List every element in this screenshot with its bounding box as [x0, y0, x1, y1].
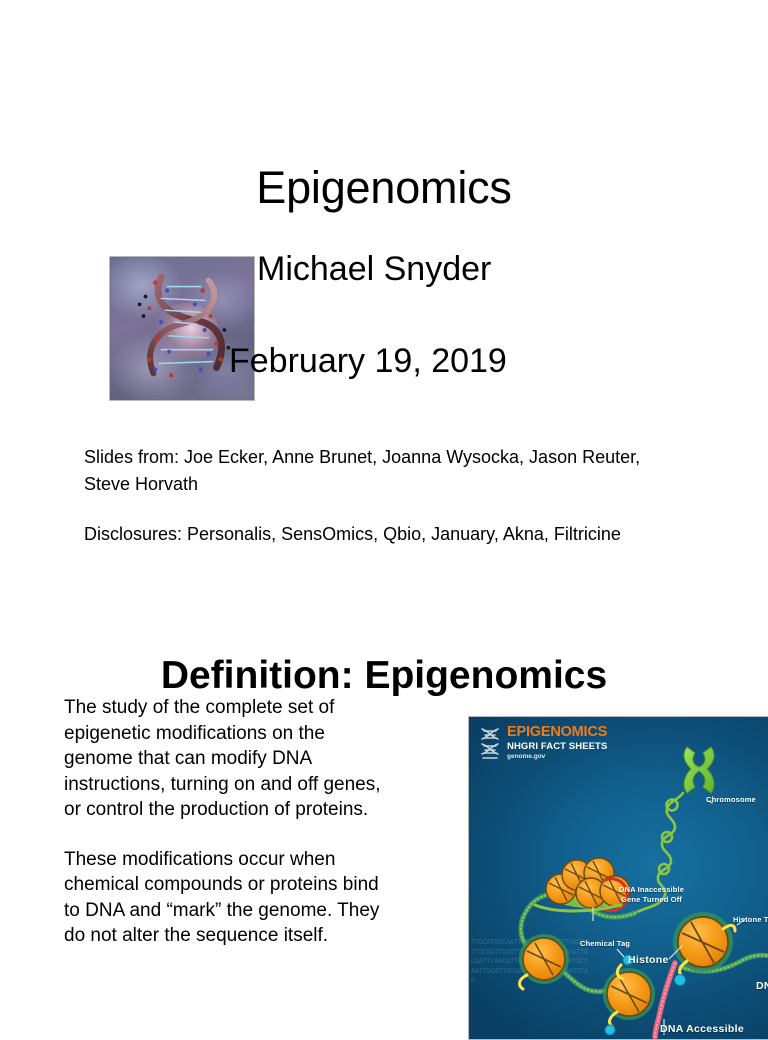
chemical-tag-dot: [605, 1025, 615, 1035]
nhgri-logo-text: EPIGENOMICS NHGRI FACT SHEETS genome.gov: [507, 725, 607, 761]
label-chromosome: Chromosome: [706, 795, 756, 805]
presentation-date: February 19, 2019: [229, 341, 507, 381]
figure-canvas: TTGCATGCCAATTGCATTGCGATTTCAGCATTGCGATTCA…: [469, 717, 768, 1039]
nhgri-epigenomics-figure: TTGCATGCCAATTGCATTGCGATTTCAGCATTGCGATTCA…: [468, 716, 768, 1040]
page-title: Epigenomics: [0, 162, 768, 214]
chromosome-icon: [684, 747, 714, 793]
condensed-nucleosome-cluster: [535, 858, 630, 921]
disclosures-text: Disclosures: Personalis, SensOmics, Qbio…: [84, 521, 684, 548]
slide-heading: Definition: Epigenomics: [0, 653, 768, 699]
label-histone: Histone: [628, 955, 669, 965]
logo-title: EPIGENOMICS: [507, 725, 607, 740]
label-histone-tail: Histone Tail: [733, 915, 768, 925]
label-chemical-tag: Chemical Tag: [580, 939, 630, 949]
label-dna: DNA: [756, 981, 768, 991]
definition-body-text: The study of the complete set of epigene…: [64, 695, 394, 949]
figure-illustration: [469, 717, 768, 1040]
logo-url: genome.gov: [507, 754, 607, 761]
nucleosome-left: [519, 934, 569, 989]
dna-ladder-icon: [479, 726, 501, 762]
nhgri-logo: EPIGENOMICS NHGRI FACT SHEETS genome.gov: [479, 725, 607, 762]
logo-subtitle: NHGRI FACT SHEETS: [507, 742, 607, 752]
author-name: Michael Snyder: [257, 249, 491, 289]
credits-block: Slides from: Joe Ecker, Anne Brunet, Joa…: [84, 444, 684, 548]
definition-paragraph-1: The study of the complete set of epigene…: [64, 695, 394, 823]
label-dna-inaccessible: DNA Inaccessible Gene Turned Off: [619, 885, 684, 905]
label-dna-accessible: DNA Accessible: [660, 1024, 744, 1034]
slides-credit-text: Slides from: Joe Ecker, Anne Brunet, Joa…: [84, 444, 684, 498]
definition-slide: Definition: Epigenomics The study of the…: [0, 600, 768, 1024]
title-slide: Epigenomics: [0, 0, 768, 600]
definition-paragraph-2: These modifications occur when chemical …: [64, 847, 394, 949]
